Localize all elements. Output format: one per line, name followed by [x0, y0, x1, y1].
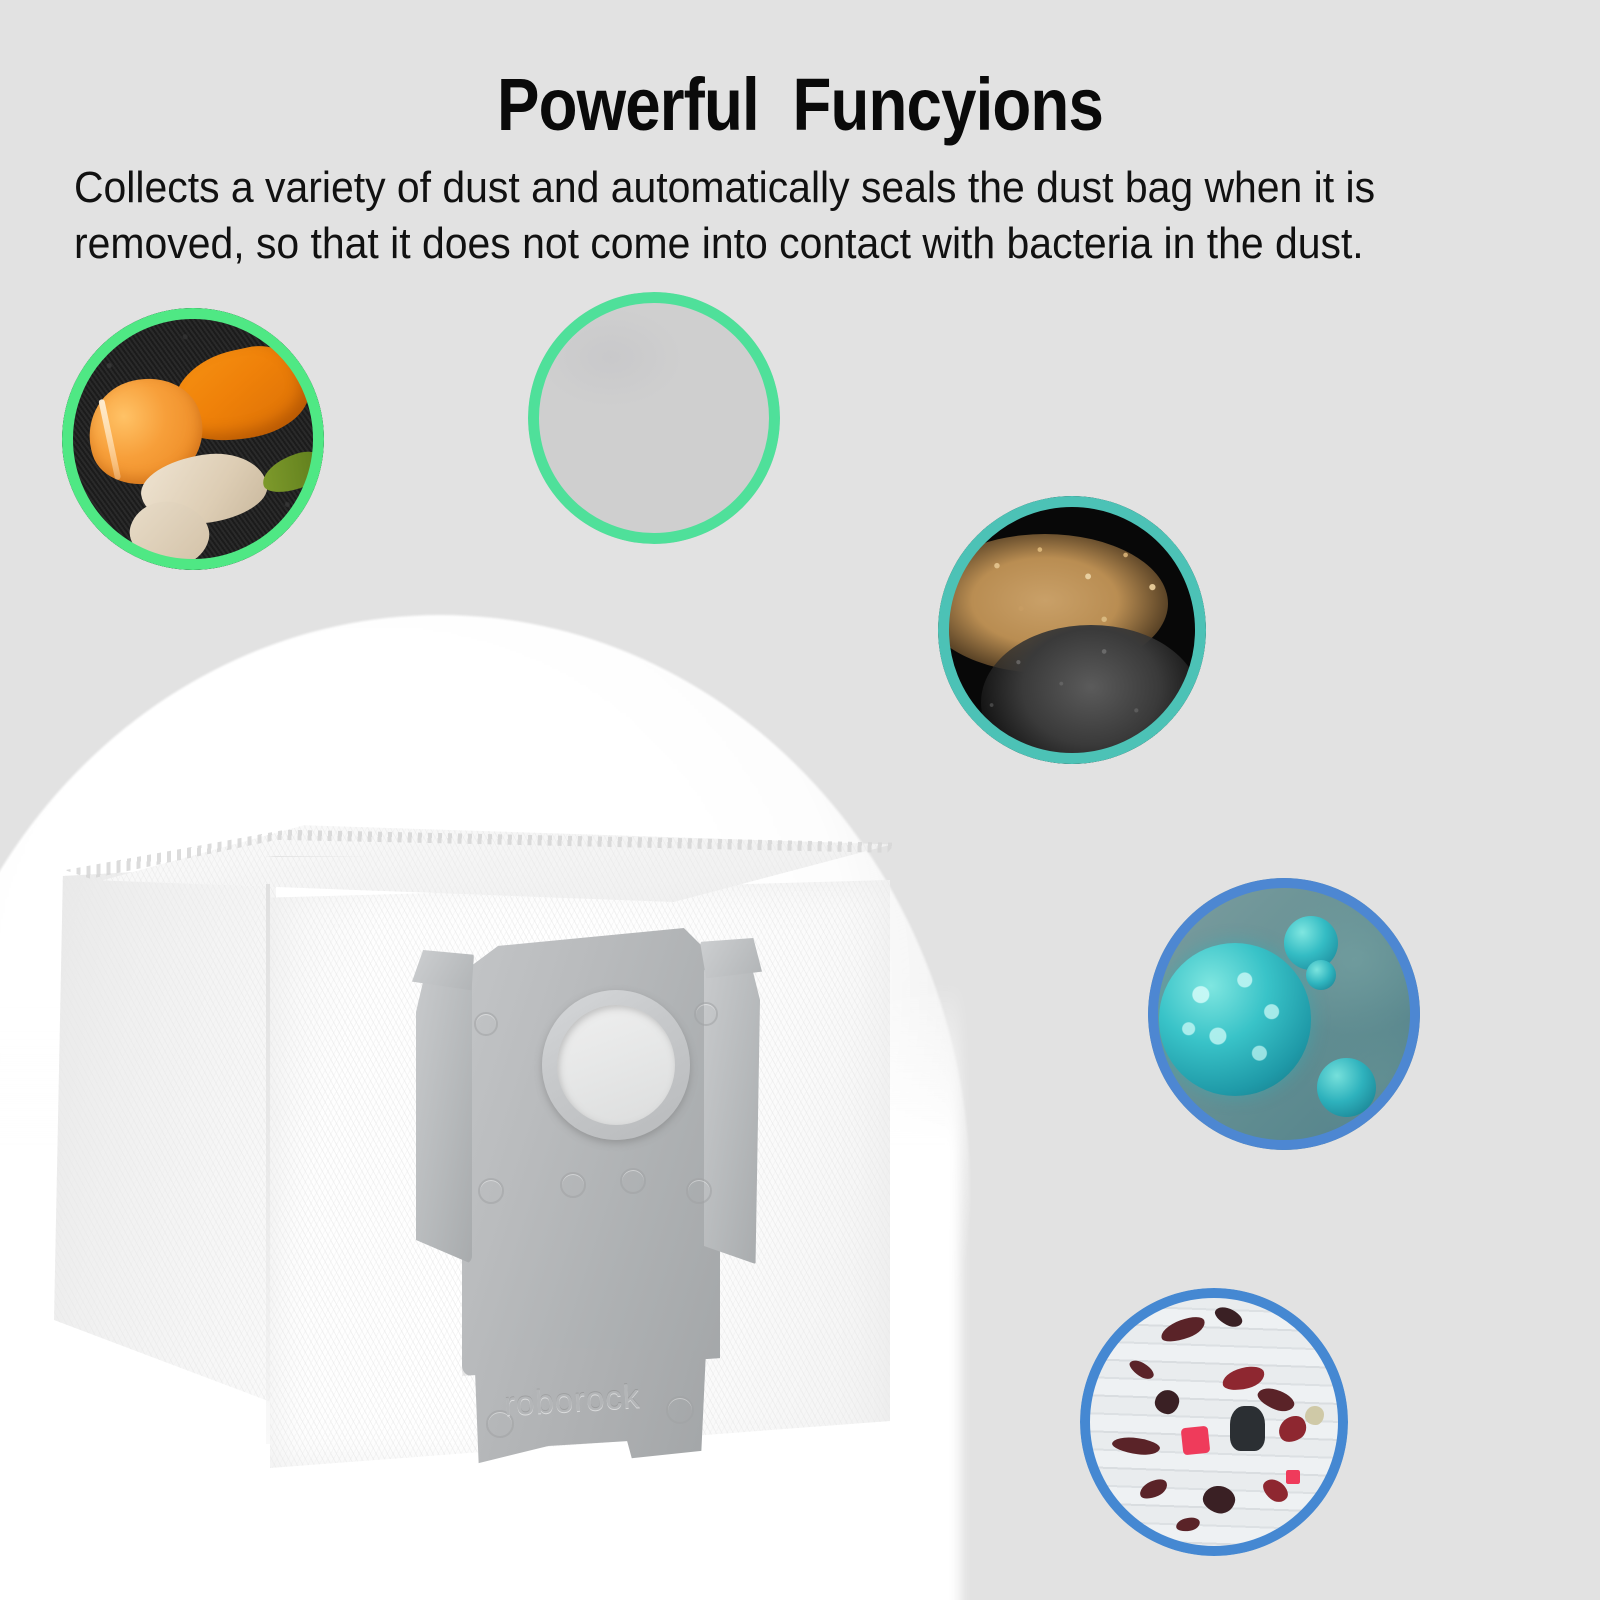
collar-dimple	[560, 1172, 586, 1198]
bag-side-panel	[54, 840, 276, 1440]
bag-corner-fold	[266, 884, 270, 1444]
virus-particle-small-2	[1306, 960, 1336, 990]
collar-dimple	[694, 1002, 718, 1026]
badge-floor-debris-image	[1080, 1288, 1348, 1556]
collar-suction-port	[542, 990, 690, 1140]
virus-particle-large	[1159, 943, 1311, 1095]
badge-dust-haze	[528, 292, 780, 544]
dust-specks	[938, 496, 1206, 764]
debris-piece-red	[1181, 1426, 1210, 1455]
badge-orange-peel-image	[62, 308, 324, 570]
page-title: Powerful Funcyions	[112, 62, 1488, 147]
debris-piece-red	[1286, 1470, 1299, 1483]
infographic-canvas: Powerful Funcyions Collects a variety of…	[0, 0, 1600, 1600]
badge-orange-peel	[62, 308, 324, 570]
badge-floor-debris	[1080, 1288, 1348, 1556]
badge-bacteria	[1148, 878, 1420, 1150]
bag-plastic-collar: roborock	[408, 928, 776, 1473]
collar-wing-left	[416, 964, 472, 1264]
haze-wisp	[538, 307, 684, 408]
product-dust-bag: roborock	[18, 818, 928, 1518]
bag-fabric-texture	[54, 840, 276, 1440]
collar-dimple	[686, 1178, 712, 1204]
collar-dimple	[620, 1168, 646, 1194]
page-description: Collects a variety of dust and automatic…	[74, 160, 1395, 273]
badge-dust-haze-image	[528, 292, 780, 544]
collar-dimple	[478, 1178, 504, 1204]
badge-sand-dust-image	[938, 496, 1206, 764]
collar-dimple	[474, 1012, 498, 1036]
badge-sand-dust	[938, 496, 1206, 764]
debris-piece	[1305, 1406, 1324, 1425]
badge-bacteria-image	[1148, 878, 1420, 1150]
debris-piece	[1230, 1406, 1265, 1452]
